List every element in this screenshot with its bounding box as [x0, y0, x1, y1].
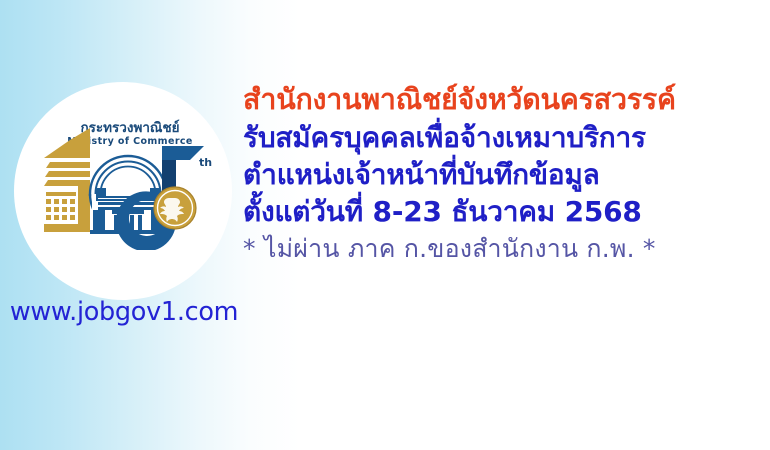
svg-text:กระทรวงพาณิชย์: กระทรวงพาณิชย์ — [80, 119, 179, 136]
svg-text:th: th — [199, 156, 212, 169]
announcement-line-office-name: สำนักงานพาณิชย์จังหวัดนครสวรรค์ — [243, 86, 761, 115]
logo-block: กระทรวงพาณิชย์ Ministry of Commerce — [14, 82, 232, 300]
job-announcement-banner: กระทรวงพาณิชย์ Ministry of Commerce — [0, 0, 770, 450]
announcement-line-recruitment: รับสมัครบุคคลเพื่อจ้างเหมาบริการ — [243, 124, 761, 152]
announcement-text-block: สำนักงานพาณิชย์จังหวัดนครสวรรค์ รับสมัคร… — [243, 86, 761, 261]
ministry-of-commerce-105th-logo-icon: กระทรวงพาณิชย์ Ministry of Commerce — [32, 110, 214, 250]
announcement-line-dates: ตั้งแต่วันที่ 8-23 ธันวาคม 2568 — [243, 198, 761, 226]
announcement-line-position: ตำแหน่งเจ้าหน้าที่บันทึกข้อมูล — [243, 161, 761, 189]
website-url[interactable]: www.jobgov1.com — [8, 297, 240, 327]
announcement-line-note: * ไม่ผ่าน ภาค ก.ของสำนักงาน ก.พ. * — [243, 236, 761, 261]
